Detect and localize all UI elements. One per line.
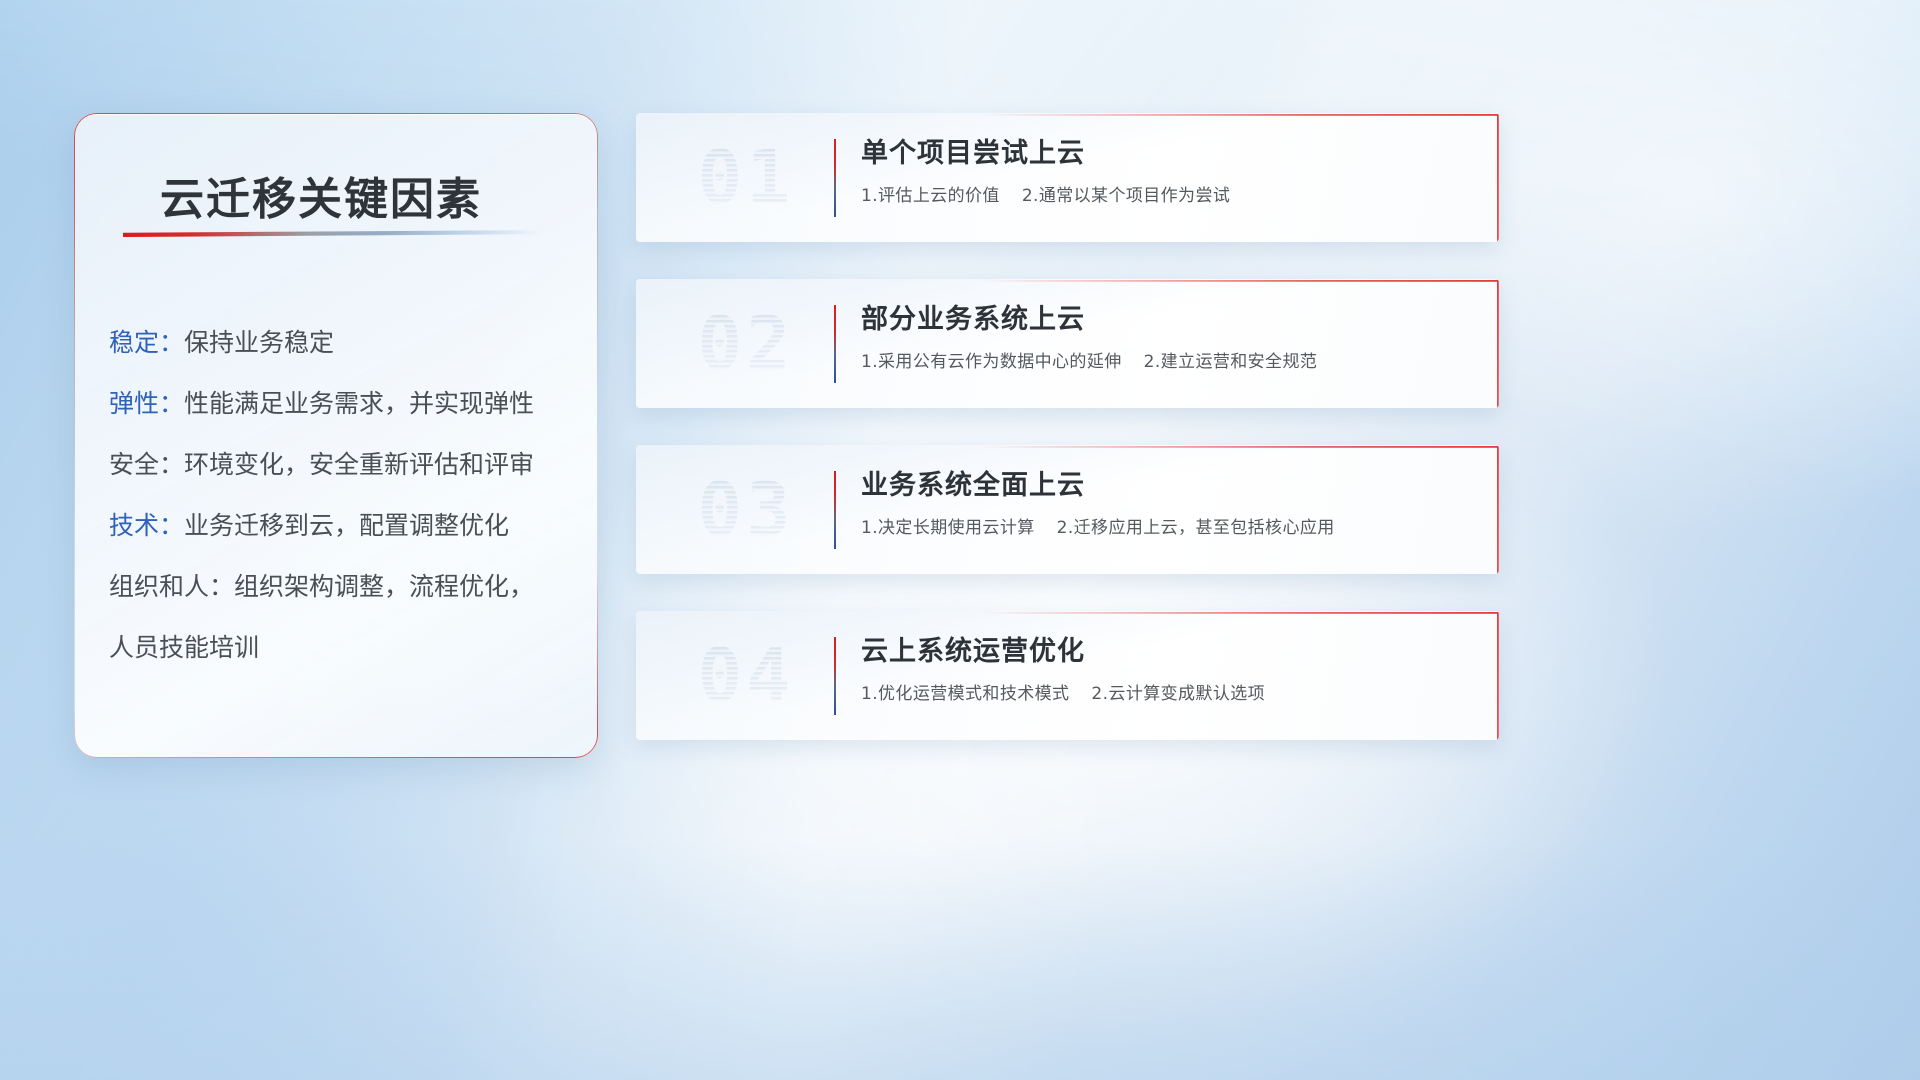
title-underline-bar	[123, 230, 543, 237]
step-subtitle: 1.优化运营模式和技术模式2.云计算变成默认选项	[861, 679, 1459, 704]
step-divider	[834, 471, 836, 549]
list-item-text: 保持业务稳定	[184, 328, 334, 357]
key-factors-list: 稳定：保持业务稳定 弹性：性能满足业务需求，并实现弹性 安全：环境变化，安全重新…	[109, 312, 571, 678]
step-point-1: 1.采用公有云作为数据中心的延伸	[861, 352, 1122, 372]
step-content: 单个项目尝试上云 1.评估上云的价值2.通常以某个项目作为尝试	[861, 131, 1459, 206]
step-divider	[834, 139, 836, 217]
background-bottom-gradient	[0, 840, 1920, 1080]
step-number-03: 03	[666, 461, 826, 559]
step-point-1: 1.优化运营模式和技术模式	[861, 684, 1069, 704]
step-point-2: 2.通常以某个项目作为尝试	[1022, 186, 1230, 206]
list-item-continuation: 人员技能培训	[109, 617, 571, 678]
list-item-label: 稳定：	[109, 328, 184, 357]
list-item-text: 人员技能培训	[109, 633, 259, 662]
list-item-label: 组织和人：	[109, 572, 234, 601]
list-item-text: 性能满足业务需求，并实现弹性	[184, 389, 534, 418]
step-point-1: 1.决定长期使用云计算	[861, 518, 1035, 538]
list-item-label: 弹性：	[109, 389, 184, 418]
step-point-2: 2.迁移应用上云，甚至包括核心应用	[1057, 518, 1335, 538]
step-title: 部分业务系统上云	[861, 297, 1459, 336]
step-subtitle: 1.采用公有云作为数据中心的延伸2.建立运营和安全规范	[861, 347, 1459, 372]
step-point-1: 1.评估上云的价值	[861, 186, 1000, 206]
list-item: 组织和人：组织架构调整，流程优化，	[109, 556, 571, 617]
step-subtitle: 1.决定长期使用云计算2.迁移应用上云，甚至包括核心应用	[861, 513, 1459, 538]
list-item-label: 安全：	[109, 450, 184, 479]
step-point-2: 2.建立运营和安全规范	[1144, 352, 1318, 372]
list-item: 安全：环境变化，安全重新评估和评审	[109, 434, 571, 495]
step-number-04: 04	[666, 627, 826, 725]
step-divider	[834, 637, 836, 715]
step-number-01: 01	[666, 129, 826, 227]
step-title: 云上系统运营优化	[861, 629, 1459, 668]
step-point-2: 2.云计算变成默认选项	[1091, 684, 1265, 704]
list-item-text: 业务迁移到云，配置调整优化	[184, 511, 509, 540]
list-item-text: 环境变化，安全重新评估和评审	[184, 450, 534, 479]
step-card-01[interactable]: 01 单个项目尝试上云 1.评估上云的价值2.通常以某个项目作为尝试	[636, 113, 1499, 242]
step-content: 云上系统运营优化 1.优化运营模式和技术模式2.云计算变成默认选项	[861, 629, 1459, 704]
list-item-label: 技术：	[109, 511, 184, 540]
step-content: 部分业务系统上云 1.采用公有云作为数据中心的延伸2.建立运营和安全规范	[861, 297, 1459, 372]
step-number-02: 02	[666, 295, 826, 393]
list-item-text: 组织架构调整，流程优化，	[234, 572, 534, 601]
key-factors-panel: 云迁移关键因素 稳定：保持业务稳定 弹性：性能满足业务需求，并实现弹性 安全：环…	[74, 113, 598, 758]
step-divider	[834, 305, 836, 383]
migration-steps-list: 01 单个项目尝试上云 1.评估上云的价值2.通常以某个项目作为尝试 02 部分…	[636, 113, 1499, 777]
list-item: 技术：业务迁移到云，配置调整优化	[109, 495, 571, 556]
page-title: 云迁移关键因素	[160, 163, 482, 227]
step-subtitle: 1.评估上云的价值2.通常以某个项目作为尝试	[861, 181, 1459, 206]
step-card-02[interactable]: 02 部分业务系统上云 1.采用公有云作为数据中心的延伸2.建立运营和安全规范	[636, 279, 1499, 408]
step-title: 业务系统全面上云	[861, 463, 1459, 502]
list-item: 弹性：性能满足业务需求，并实现弹性	[109, 373, 571, 434]
step-title: 单个项目尝试上云	[861, 131, 1459, 170]
step-content: 业务系统全面上云 1.决定长期使用云计算2.迁移应用上云，甚至包括核心应用	[861, 463, 1459, 538]
step-card-03[interactable]: 03 业务系统全面上云 1.决定长期使用云计算2.迁移应用上云，甚至包括核心应用	[636, 445, 1499, 574]
step-card-04[interactable]: 04 云上系统运营优化 1.优化运营模式和技术模式2.云计算变成默认选项	[636, 611, 1499, 740]
list-item: 稳定：保持业务稳定	[109, 312, 571, 373]
